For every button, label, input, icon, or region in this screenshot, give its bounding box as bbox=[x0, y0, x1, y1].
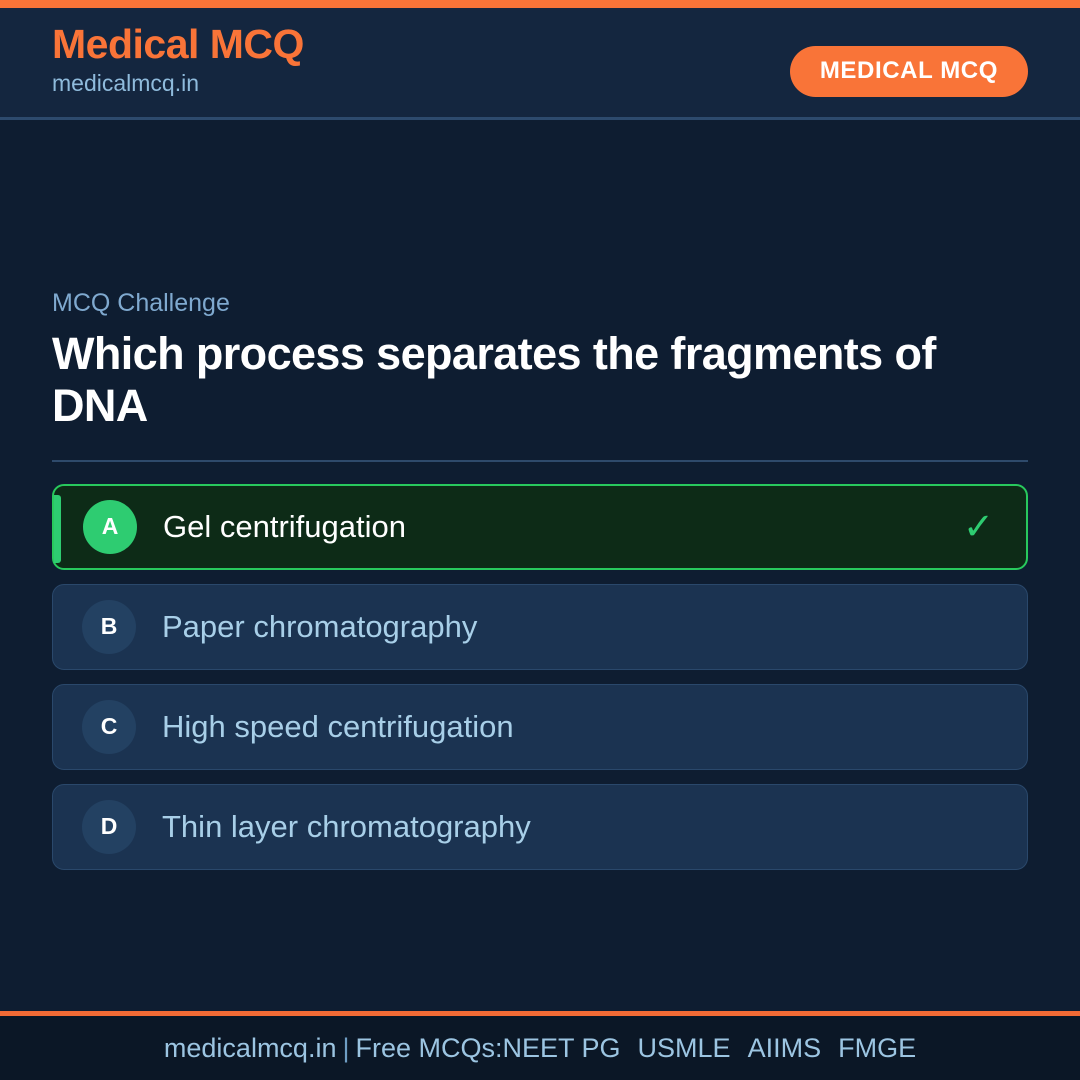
footer-exam-neet-pg[interactable]: NEET PG bbox=[503, 1035, 621, 1062]
footer-exam-fmge[interactable]: FMGE bbox=[838, 1035, 916, 1062]
footer-site[interactable]: medicalmcq.in bbox=[164, 1035, 337, 1062]
option-label: Paper chromatography bbox=[162, 608, 477, 645]
main-content: MCQ Challenge Which process separates th… bbox=[52, 288, 1028, 870]
footer-exam-list: NEET PGUSMLEAIIMSFMGE bbox=[503, 1035, 917, 1062]
option-d[interactable]: DThin layer chromatography bbox=[52, 784, 1028, 870]
brand-title: Medical MCQ bbox=[52, 22, 304, 68]
correct-check-icon: ✓ bbox=[963, 508, 994, 545]
brand-block: Medical MCQ medicalmcq.in bbox=[52, 22, 304, 98]
header-badge[interactable]: MEDICAL MCQ bbox=[790, 46, 1028, 97]
option-c[interactable]: CHigh speed centrifugation bbox=[52, 684, 1028, 770]
option-letter-badge: A bbox=[83, 500, 137, 554]
option-label: Thin layer chromatography bbox=[162, 808, 531, 845]
question-text: Which process separates the fragments of… bbox=[52, 328, 952, 432]
option-a[interactable]: AGel centrifugation✓ bbox=[52, 484, 1028, 570]
option-letter-badge: B bbox=[82, 600, 136, 654]
page-footer: medicalmcq.in | Free MCQs: NEET PGUSMLEA… bbox=[0, 1016, 1080, 1080]
option-letter-badge: D bbox=[82, 800, 136, 854]
app-header: Medical MCQ medicalmcq.in MEDICAL MCQ bbox=[0, 8, 1080, 120]
footer-exam-aiims[interactable]: AIIMS bbox=[748, 1035, 822, 1062]
correct-accent-bar bbox=[54, 495, 61, 563]
brand-subtitle: medicalmcq.in bbox=[52, 70, 304, 98]
option-label: Gel centrifugation bbox=[163, 508, 406, 545]
question-divider bbox=[52, 460, 1028, 462]
top-accent-strip bbox=[0, 0, 1080, 8]
footer-prefix: Free MCQs: bbox=[355, 1035, 502, 1062]
mcq-kicker: MCQ Challenge bbox=[52, 288, 1028, 319]
options-list: AGel centrifugation✓BPaper chromatograph… bbox=[52, 484, 1028, 870]
footer-separator: | bbox=[336, 1035, 355, 1062]
option-b[interactable]: BPaper chromatography bbox=[52, 584, 1028, 670]
footer-exam-usmle[interactable]: USMLE bbox=[638, 1035, 731, 1062]
option-letter-badge: C bbox=[82, 700, 136, 754]
option-label: High speed centrifugation bbox=[162, 708, 514, 745]
